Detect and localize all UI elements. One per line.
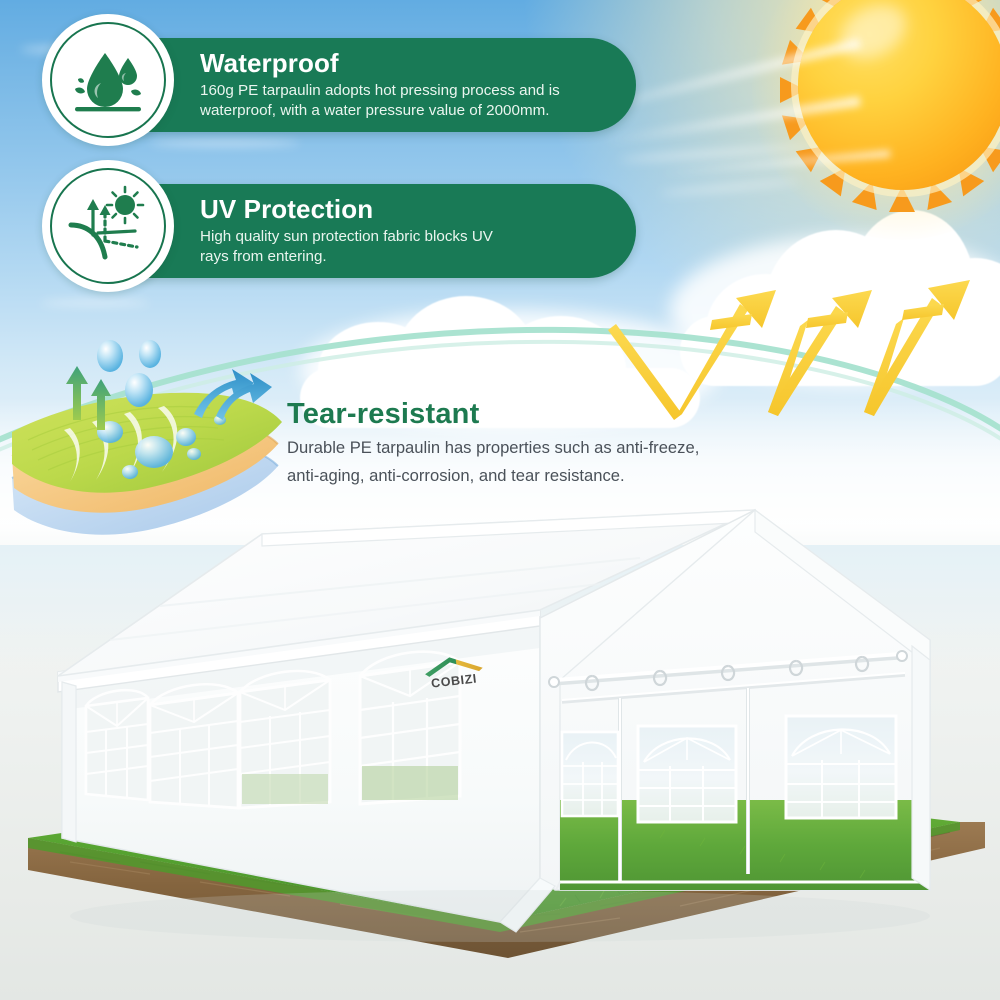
party-tent-product xyxy=(0,470,1000,1000)
uv-protection-title: UV Protection xyxy=(200,196,602,223)
tent-window xyxy=(562,732,618,816)
water-droplet-icon xyxy=(97,340,161,407)
tent-window xyxy=(786,716,896,818)
tent-window xyxy=(240,671,330,808)
tear-resistant-title: Tear-resistant xyxy=(287,398,757,431)
feature-badge-waterproof: Waterproof 160g PE tarpaulin adopts hot … xyxy=(0,30,660,150)
tent-corner-leg-left xyxy=(62,682,76,842)
tent-window-group-right xyxy=(562,716,896,822)
product-infographic: Waterproof 160g PE tarpaulin adopts hot … xyxy=(0,0,1000,1000)
sun-icon xyxy=(752,0,1000,240)
water-drop-icon xyxy=(42,14,174,146)
tent-window xyxy=(86,690,148,800)
feature-badge-uv-protection: UV Protection High quality sun protectio… xyxy=(0,176,660,296)
waterproof-desc-line1: 160g PE tarpaulin adopts hot pressing pr… xyxy=(200,81,602,100)
tear-resistant-desc-line1: Durable PE tarpaulin has properties such… xyxy=(287,437,757,459)
waterproof-desc-line2: waterproof, with a water pressure value … xyxy=(200,101,602,120)
tent-window xyxy=(638,726,736,822)
uv-protection-desc-line1: High quality sun protection fabric block… xyxy=(200,227,602,246)
tent-window xyxy=(150,684,238,808)
tent-corner-leg-right xyxy=(912,646,930,890)
waterproof-title: Waterproof xyxy=(200,50,602,77)
uv-protection-desc-line2: rays from entering. xyxy=(200,247,602,266)
sun-uv-reflect-icon xyxy=(42,160,174,292)
